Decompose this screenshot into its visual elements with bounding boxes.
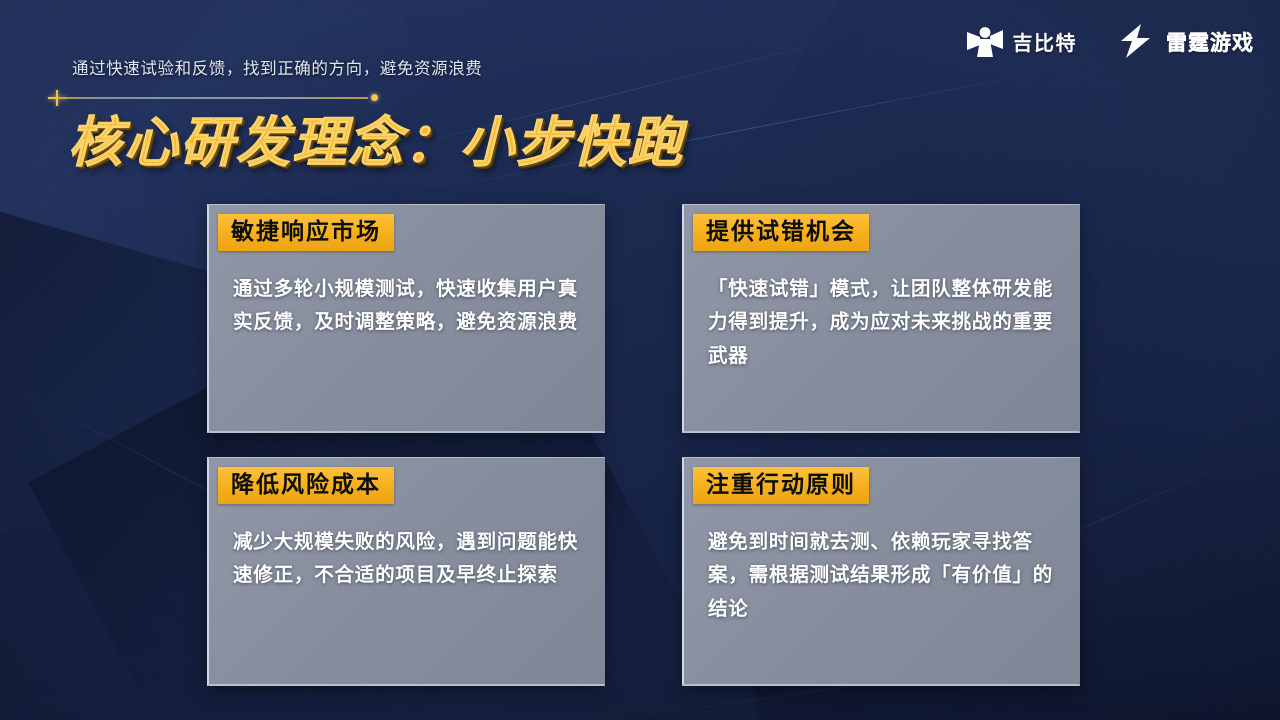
card-body-text: 避免到时间就去测、依赖玩家寻找答案，需根据测试结果形成「有价值」的结论: [708, 526, 1057, 627]
title-divider: [48, 90, 378, 106]
logo-leiting: 雷霆游戏: [1117, 24, 1254, 63]
concept-card: 注重行动原则 避免到时间就去测、依赖玩家寻找答案，需根据测试结果形成「有价值」的…: [682, 457, 1080, 686]
slide-subtitle: 通过快速试验和反馈，找到正确的方向，避免资源浪费: [72, 55, 482, 79]
card-body-text: 通过多轮小规模测试，快速收集用户真实反馈，及时调整策略，避免资源浪费: [233, 273, 582, 340]
divider-line: [58, 97, 368, 99]
page-title: 核心研发理念：小步快跑: [68, 112, 684, 176]
card-tag-label: 降低风险成本: [218, 467, 394, 504]
concept-card: 降低风险成本 减少大规模失败的风险，遇到问题能快速修正，不合适的项目及早终止探索: [207, 457, 605, 686]
card-body-text: 减少大规模失败的风险，遇到问题能快速修正，不合适的项目及早终止探索: [233, 526, 582, 593]
slide-canvas: 吉比特 雷霆游戏 通过快速试验和反馈，找到正确的方向，避免资源浪费 核心研发理念…: [0, 0, 1280, 720]
logo-leiting-label: 雷霆游戏: [1166, 33, 1254, 54]
card-tag-label: 提供试错机会: [693, 214, 869, 251]
logo-gbit: 吉比特: [966, 24, 1078, 63]
angel-figure-icon: [966, 24, 1004, 63]
lightning-bolt-icon: [1117, 24, 1157, 63]
concept-card-grid: 敏捷响应市场 通过多轮小规模测试，快速收集用户真实反馈，及时调整策略，避免资源浪…: [207, 204, 1080, 692]
card-tag-label: 敏捷响应市场: [218, 214, 394, 251]
logo-gbit-label: 吉比特: [1013, 34, 1078, 54]
card-body-text: 「快速试错」模式，让团队整体研发能力得到提升，成为应对未来挑战的重要武器: [708, 273, 1057, 374]
card-tag-label: 注重行动原则: [693, 467, 869, 504]
divider-end-dot-icon: [371, 94, 378, 101]
brand-logo-bar: 吉比特 雷霆游戏: [966, 24, 1255, 63]
concept-card: 敏捷响应市场 通过多轮小规模测试，快速收集用户真实反馈，及时调整策略，避免资源浪…: [207, 204, 605, 433]
concept-card: 提供试错机会 「快速试错」模式，让团队整体研发能力得到提升，成为应对未来挑战的重…: [682, 204, 1080, 433]
